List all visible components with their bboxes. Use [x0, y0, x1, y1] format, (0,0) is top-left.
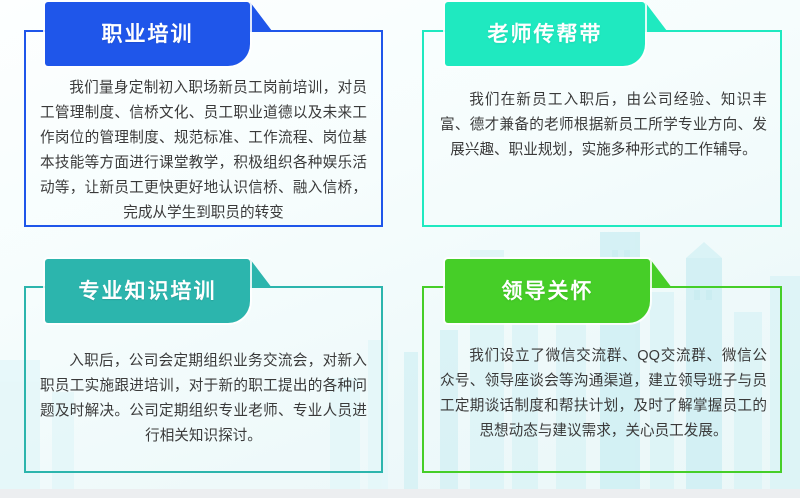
- card-ribbon[interactable]: 老师传帮带: [445, 2, 645, 66]
- card-leadership-care[interactable]: 领导关怀 我们设立了微信交流群、QQ交流群、微信公众号、领导座谈会等沟通渠道，建…: [400, 249, 800, 498]
- card-mentorship[interactable]: 老师传帮带 我们在新员工入职后，由公司经验、知识丰富、德才兼备的老师根据新员工所…: [400, 0, 800, 249]
- card-vocational-training[interactable]: 职业培训 我们量身定制初入职场新员工岗前培训，对员工管理制度、信桥文化、员工职业…: [0, 0, 400, 249]
- card-ribbon[interactable]: 职业培训: [45, 2, 250, 66]
- card-body-text: 我们设立了微信交流群、QQ交流群、微信公众号、领导座谈会等沟通渠道，建立领导班子…: [440, 344, 767, 444]
- card-title: 领导关怀: [502, 281, 594, 302]
- card-title: 职业培训: [102, 24, 194, 45]
- card-title: 老师传帮带: [488, 24, 603, 45]
- card-body-text: 入职后，公司会定期组织业务交流会，对新入职员工实施跟进培训，对于新的职工提出的各…: [40, 349, 367, 449]
- ribbon-fold-icon: [645, 2, 667, 31]
- card-ribbon[interactable]: 专业知识培训: [45, 259, 250, 323]
- card-professional-knowledge-training[interactable]: 专业知识培训 入职后，公司会定期组织业务交流会，对新入职员工实施跟进培训，对于新…: [0, 249, 400, 498]
- card-grid: 职业培训 我们量身定制初入职场新员工岗前培训，对员工管理制度、信桥文化、员工职业…: [0, 0, 800, 498]
- card-title: 专业知识培训: [79, 281, 217, 302]
- card-body-text: 我们在新员工入职后，由公司经验、知识丰富、德才兼备的老师根据新员工所学专业方向、…: [440, 88, 767, 163]
- ribbon-fold-icon: [250, 2, 272, 31]
- card-body-text: 我们量身定制初入职场新员工岗前培训，对员工管理制度、信桥文化、员工职业道德以及未…: [40, 76, 367, 227]
- card-ribbon[interactable]: 领导关怀: [445, 259, 650, 323]
